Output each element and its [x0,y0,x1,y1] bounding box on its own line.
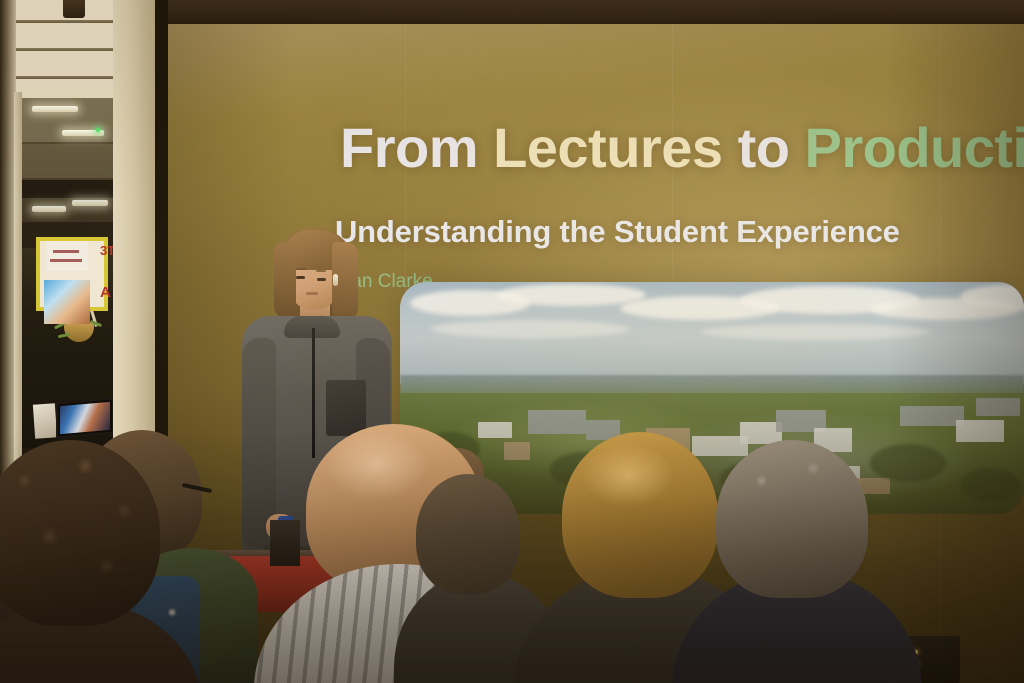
presenter-eye [296,276,305,279]
audience-head-grey [716,440,868,598]
campus-building [900,406,964,426]
audience-head-blonde [562,432,718,598]
audience-member-grey-hair [716,440,926,683]
slide-title-word-production: Producti [804,116,1024,179]
slide-title-word-lectures: Lectures [493,116,722,179]
strip-light [32,206,66,212]
poster-colour-image [44,280,90,324]
audience-head [0,440,160,626]
poster-text-line [53,250,79,253]
cloud [700,324,930,340]
presenter-mouth [306,292,318,295]
slide-title-word-to: to [738,116,790,179]
strip-light [72,200,108,206]
audience-head [416,474,520,594]
tree-cluster [960,468,1020,502]
campus-building [956,420,1004,442]
presentation-photo-scene: From Lectures to Producti Understanding … [0,0,1024,683]
ceiling-beam [20,180,115,198]
cloud [496,284,646,306]
presenter-eye [317,278,326,281]
audience-member-curly-hair [0,440,212,683]
poster-white-sheet [46,241,88,271]
slide-title-word-from: From [340,116,478,179]
presenter-brow [296,268,306,270]
poster-text-line [50,259,82,262]
presenter-earring [333,274,338,286]
dark-post [270,520,300,566]
cloud [430,320,630,338]
presenter-brow [316,270,326,272]
slide-subtitle: Understanding the Student Experience [335,214,900,250]
ceiling-tile [20,144,115,178]
green-status-led [96,128,100,132]
strip-light [32,106,78,112]
slat-wall-bracket [63,0,85,18]
campus-building [976,398,1020,416]
presenter-hair-left [274,242,296,318]
slide-title: From Lectures to Producti [340,120,1024,176]
